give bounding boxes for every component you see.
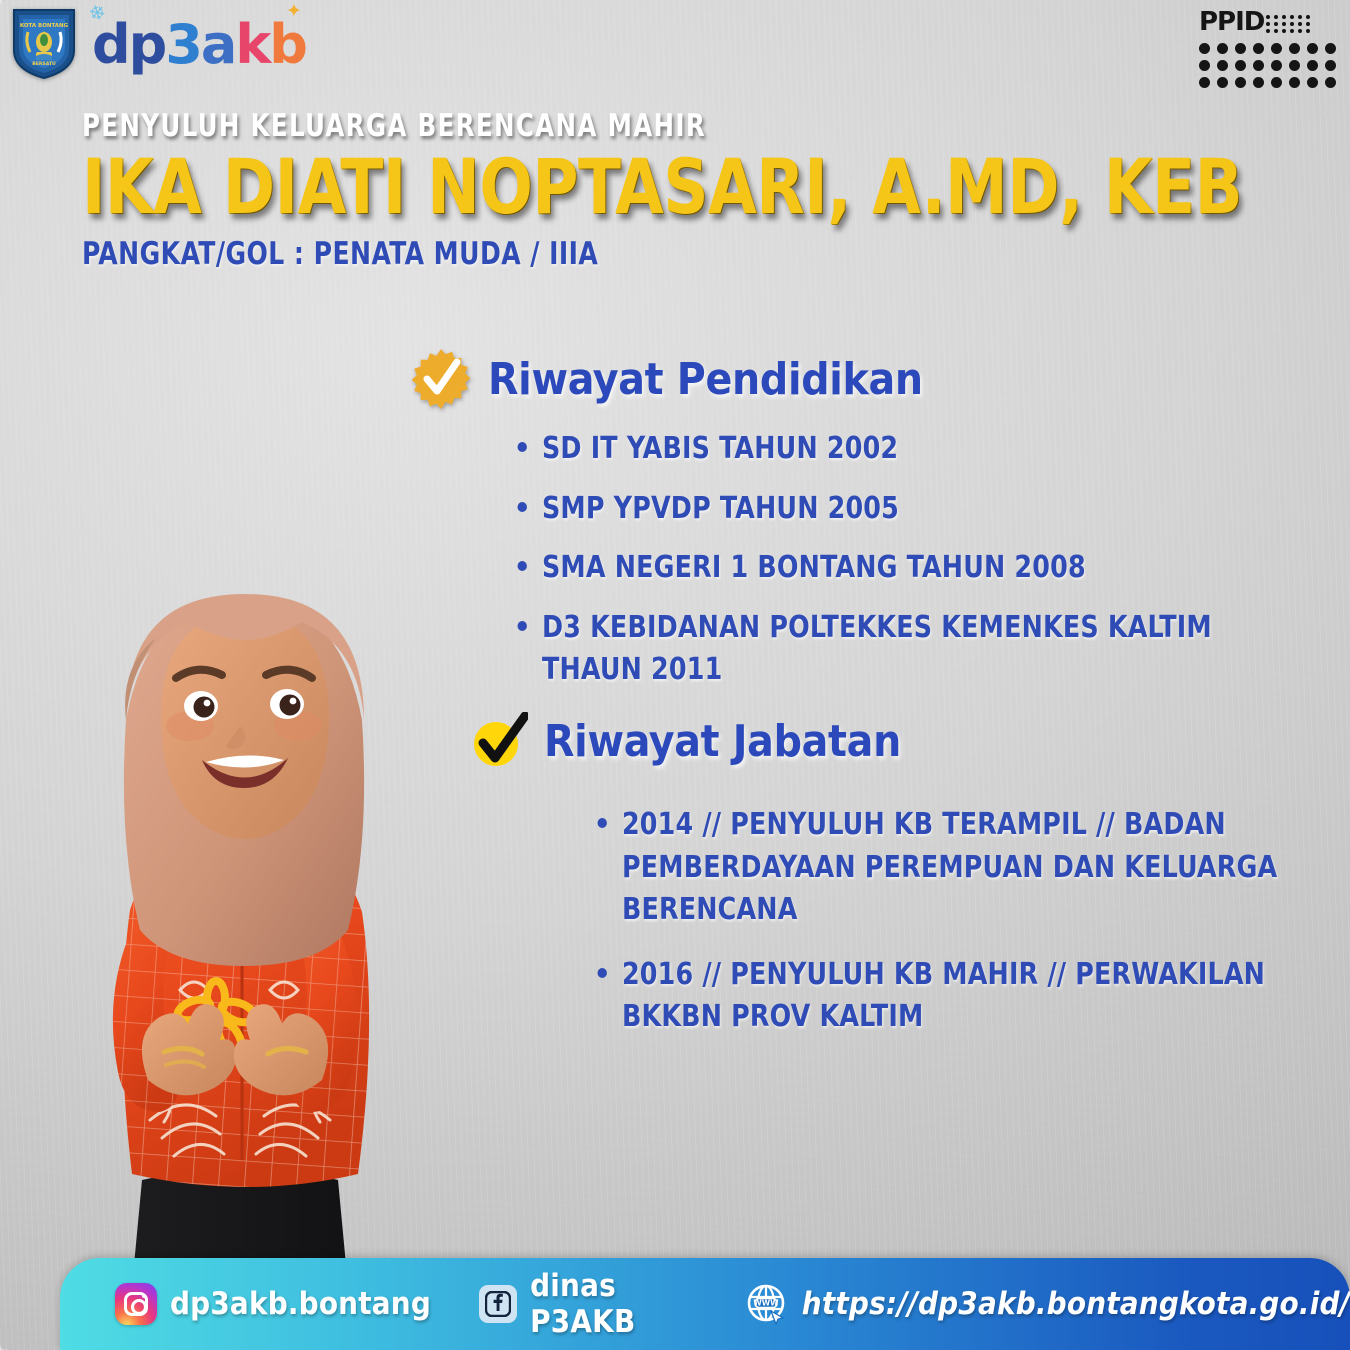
globe-www-icon[interactable]: WWW: [745, 1282, 789, 1326]
section-header: Riwayat Jabatan: [470, 712, 1350, 770]
list-item: 2014 // PENYULUH KB TERAMPIL // BADAN PE…: [590, 804, 1304, 932]
list-item: D3 KEBIDANAN POLTEKKES KEMENKES KALTIM T…: [510, 607, 1300, 692]
check-star-badge-icon: [410, 348, 472, 410]
wordmark-letter-3: 3: [165, 13, 201, 76]
svg-text:BERSATU: BERSATU: [32, 61, 56, 67]
facebook-handle[interactable]: dinas P3AKB: [479, 1268, 697, 1340]
section-title: Riwayat Jabatan: [544, 716, 901, 767]
person-name: IKA DIATI NOPTASARI, A.MD, KEB: [82, 150, 1242, 224]
education-list: SD IT YABIS TAHUN 2002 SMP YPVDP TAHUN 2…: [510, 428, 1350, 692]
website-url-label: https://dp3akb.bontangkota.go.id/: [802, 1286, 1350, 1322]
instagram-label: dp3akb.bontang: [170, 1286, 431, 1322]
section-riwayat-pendidikan: Riwayat Pendidikan SD IT YABIS TAHUN 200…: [410, 348, 1350, 709]
brand-lockup: KOTA BONTANG BERSATU ❄ ✦ dp3akb: [10, 6, 306, 80]
job-history-list: 2014 // PENYULUH KB TERAMPIL // BADAN PE…: [590, 804, 1350, 1039]
dp3akb-wordmark: ❄ ✦ dp3akb: [92, 18, 306, 72]
list-item: 2016 // PENYULUH KB MAHIR // PERWAKILAN …: [590, 954, 1304, 1039]
rank-line: PANGKAT/GOL : PENATA MUDA / IIIA: [82, 236, 1217, 272]
section-riwayat-jabatan: Riwayat Jabatan 2014 // PENYULUH KB TERA…: [470, 712, 1350, 1061]
wordmark-letter-a: a: [201, 13, 235, 76]
ppid-logo: PPID: [1199, 10, 1336, 88]
facebook-label: dinas P3AKB: [530, 1268, 697, 1340]
ppid-label: PPID: [1199, 10, 1264, 35]
wordmark-letter-p: p: [129, 13, 166, 76]
social-footer-bar: dp3akb.bontang dinas P3AKB WWW: [60, 1258, 1350, 1350]
section-title: Riwayat Pendidikan: [488, 354, 923, 405]
section-header: Riwayat Pendidikan: [410, 348, 1350, 410]
facebook-icon[interactable]: [479, 1285, 517, 1323]
svg-text:WWW: WWW: [753, 1299, 779, 1308]
list-item: SD IT YABIS TAHUN 2002: [510, 428, 1300, 471]
wordmark-deco-sparkle-icon: ✦: [286, 2, 300, 21]
ppid-dotgrid-large: [1199, 43, 1336, 88]
list-item: SMP YPVDP TAHUN 2005: [510, 488, 1300, 531]
ppid-dotgrid-small: [1266, 10, 1310, 33]
kota-bontang-crest-icon: KOTA BONTANG BERSATU: [10, 6, 78, 80]
person-illustration: [30, 520, 460, 1350]
website-link[interactable]: WWW https://dp3akb.bontangkota.go.id/: [745, 1282, 1350, 1326]
list-item: SMA NEGERI 1 BONTANG TAHUN 2008: [510, 547, 1300, 590]
wordmark-deco-ribbon-icon: ❄: [86, 1, 106, 25]
title-block: PENYULUH KELUARGA BERENCANA MAHIR IKA DI…: [82, 108, 1343, 272]
poster-canvas: KOTA BONTANG BERSATU ❄ ✦ dp3akb PPID: [0, 0, 1350, 1350]
svg-text:KOTA BONTANG: KOTA BONTANG: [20, 23, 69, 29]
instagram-handle[interactable]: dp3akb.bontang: [115, 1283, 431, 1325]
job-title-eyebrow: PENYULUH KELUARGA BERENCANA MAHIR: [82, 108, 1192, 144]
check-circle-badge-icon: [470, 712, 528, 770]
instagram-icon[interactable]: [115, 1283, 157, 1325]
wordmark-letter-k: k: [235, 13, 269, 76]
wordmark-letter-b: b: [269, 13, 306, 76]
